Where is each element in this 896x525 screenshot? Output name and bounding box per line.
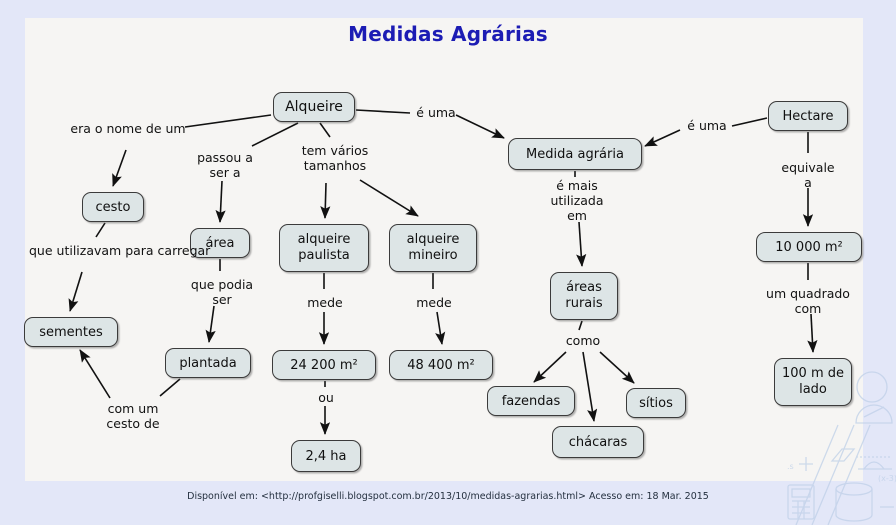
link-label-mede-paulista: mede bbox=[302, 295, 348, 310]
link-label-ou: ou bbox=[315, 390, 337, 405]
link-label-e-uma-alqueire: é uma bbox=[414, 105, 458, 120]
node-chacaras[interactable]: chácaras bbox=[552, 426, 644, 458]
node-sitios[interactable]: sítios bbox=[626, 388, 686, 418]
link-label-como: como bbox=[563, 333, 603, 348]
node-24200-m2[interactable]: 24 200 m² bbox=[272, 350, 376, 380]
link-label-passou-a-ser-a: passou a ser a bbox=[196, 150, 254, 180]
node-plantada[interactable]: plantada bbox=[165, 348, 251, 378]
node-fazendas[interactable]: fazendas bbox=[487, 386, 575, 416]
page-title: Medidas Agrárias bbox=[0, 22, 896, 46]
link-label-mede-mineiro: mede bbox=[411, 295, 457, 310]
link-label-tem-varios-tamanhos: tem vários tamanhos bbox=[296, 143, 374, 173]
node-areas-rurais[interactable]: áreas rurais bbox=[550, 272, 618, 320]
node-100m-de-lado[interactable]: 100 m de lado bbox=[774, 358, 852, 406]
node-10000-m2[interactable]: 10 000 m² bbox=[756, 232, 862, 262]
node-alqueire-paulista[interactable]: alqueire paulista bbox=[279, 224, 369, 272]
link-label-com-um-cesto-de: com um cesto de bbox=[95, 401, 171, 431]
link-label-que-podia-ser: que podia ser bbox=[190, 277, 254, 307]
link-label-equivale-a: equivale a bbox=[779, 160, 837, 190]
slide-root: Medidas Agrárias bbox=[0, 0, 896, 525]
link-label-que-utilizavam-para-carregar: que utilizavam para carregar bbox=[29, 243, 169, 258]
link-label-era-o-nome-de-um: era o nome de um bbox=[68, 121, 188, 136]
node-alqueire-mineiro[interactable]: alqueire mineiro bbox=[389, 224, 477, 272]
node-sementes[interactable]: sementes bbox=[24, 317, 118, 347]
node-medida-agraria[interactable]: Medida agrária bbox=[508, 138, 642, 170]
svg-text:(x-3): (x-3) bbox=[878, 474, 896, 483]
node-48400-m2[interactable]: 48 400 m² bbox=[389, 350, 493, 380]
node-hectare[interactable]: Hectare bbox=[768, 101, 848, 131]
node-alqueire[interactable]: Alqueire bbox=[273, 92, 355, 122]
link-label-e-uma-hectare: é uma bbox=[685, 118, 729, 133]
link-label-um-quadrado-com: um quadrado com bbox=[751, 286, 865, 316]
link-label-e-mais-utilizada-em: é mais utilizada em bbox=[547, 178, 607, 223]
source-footer: Disponível em: <http://profgiselli.blogs… bbox=[0, 491, 896, 502]
node-2-4-ha[interactable]: 2,4 ha bbox=[291, 440, 361, 472]
node-cesto[interactable]: cesto bbox=[82, 192, 144, 222]
